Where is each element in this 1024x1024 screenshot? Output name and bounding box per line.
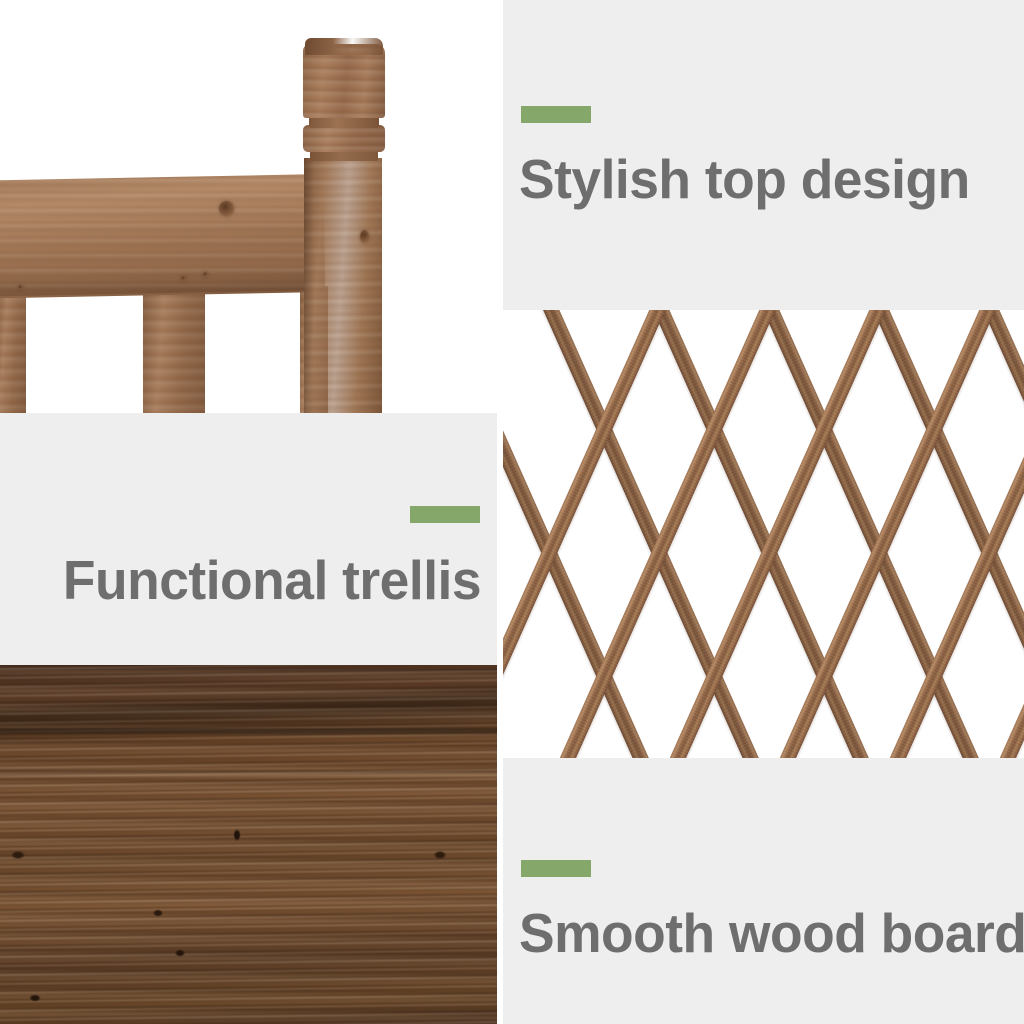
- wooden-post-finial-photo: [0, 0, 500, 413]
- photo-canvas: [0, 0, 500, 413]
- product-feature-collage: Stylish top design Functional trellis Sm…: [0, 0, 1024, 1024]
- accent-bar-icon: [410, 506, 480, 523]
- caption-text-stylish-top-design: Stylish top design: [519, 152, 970, 207]
- accent-bar-icon: [521, 106, 591, 123]
- picket-left: [0, 292, 26, 413]
- picket-middle: [143, 292, 205, 413]
- post-shaft-edge: [304, 158, 314, 413]
- finial-cap-block: [303, 44, 385, 118]
- rail-knot: [219, 201, 234, 216]
- post-screw-hole: [360, 230, 369, 243]
- expandable-trellis-lattice-photo: [503, 310, 1024, 758]
- caption-panel-stylish-top-design: Stylish top design: [503, 0, 1024, 310]
- rail-nail-2: [203, 272, 208, 277]
- caption-panel-smooth-wood-board: Smooth wood board: [503, 758, 1024, 1024]
- caption-text-functional-trellis: Functional trellis: [63, 553, 481, 608]
- rail-nail-3: [18, 285, 23, 290]
- finial-cap-top: [305, 38, 383, 55]
- caption-panel-functional-trellis: Functional trellis: [0, 413, 497, 665]
- caption-text-smooth-wood-board: Smooth wood board: [519, 906, 1024, 961]
- finial-bead: [303, 125, 385, 152]
- rail-nail-1: [181, 276, 186, 281]
- post-shaft: [304, 158, 382, 413]
- accent-bar-icon: [521, 860, 591, 877]
- smooth-wood-board-photo: [0, 665, 497, 1024]
